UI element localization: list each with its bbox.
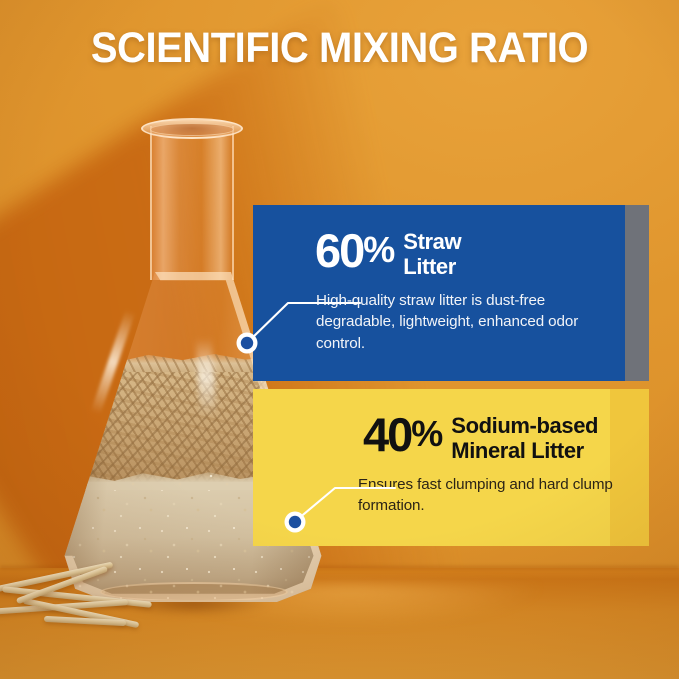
straw-label-line2: Litter <box>403 254 456 279</box>
straw-label-line1: Straw <box>403 229 461 254</box>
loose-straw-stalks <box>0 560 210 650</box>
flask-neck <box>150 126 234 280</box>
straw-label: Straw Litter <box>403 229 461 280</box>
mineral-percent-value: 40 <box>363 413 411 456</box>
straw-description: High-quality straw litter is dust-free d… <box>316 290 606 354</box>
mineral-label-line1: Sodium-based <box>451 413 598 438</box>
mineral-label: Sodium-based Mineral Litter <box>451 413 598 464</box>
straw-percentage-heading: 60 % Straw Litter <box>315 229 461 280</box>
flask-rim-inner <box>150 123 234 136</box>
straw-percent-value: 60 <box>315 229 363 272</box>
panel-mineral-litter[interactable]: 40 % Sodium-based Mineral Litter Ensures… <box>253 389 610 546</box>
mineral-percent-sign: % <box>411 413 442 455</box>
straw-percent-sign: % <box>363 229 394 271</box>
mineral-percentage-heading: 40 % Sodium-based Mineral Litter <box>363 413 598 464</box>
page-title: SCIENTIFIC MIXING RATIO <box>24 26 655 72</box>
mineral-label-line2: Mineral Litter <box>451 438 584 463</box>
panel-mineral-side-tab <box>610 389 649 546</box>
panel-straw-side-tab <box>625 205 649 381</box>
panel-straw-litter[interactable]: 60 % Straw Litter High-quality straw lit… <box>253 205 625 381</box>
mineral-description: Ensures fast clumping and hard clump for… <box>358 474 630 517</box>
product-infographic: SCIENTIFIC MIXING RATIO 60 % <box>0 0 679 679</box>
